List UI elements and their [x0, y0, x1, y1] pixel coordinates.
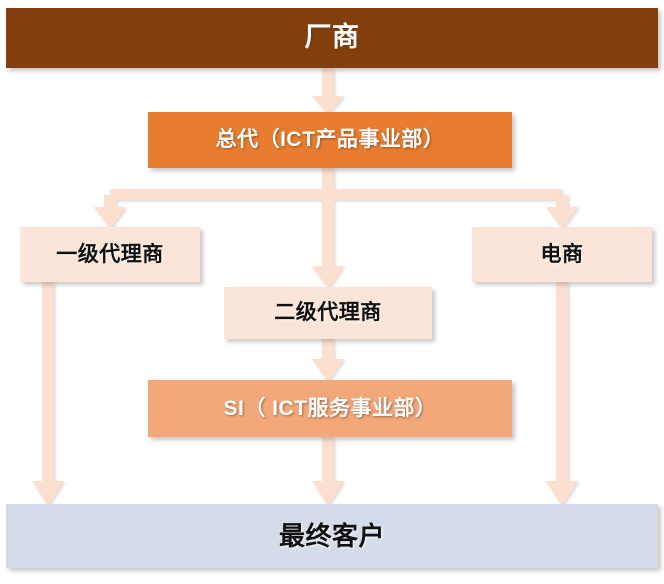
node-tier2-agent[interactable]: 二级代理商	[224, 287, 432, 339]
node-tier1-agent-label: 一级代理商	[56, 243, 164, 266]
edge-to-tier2-stem	[322, 168, 334, 268]
node-tier1-agent[interactable]: 一级代理商	[20, 227, 200, 282]
edge-tier1-to-customer-head	[32, 481, 64, 506]
edge-to-tier1-head	[94, 207, 126, 229]
node-end-customer-label: 最终客户	[279, 522, 385, 551]
edge-ecommerce-to-customer-head	[546, 481, 578, 506]
node-general-agent[interactable]: 总代（ICT产品事业部）	[148, 112, 512, 168]
node-si[interactable]: SI（ ICT服务事业部）	[148, 380, 512, 437]
edge-tier1-to-customer-stem	[42, 282, 54, 483]
node-end-customer[interactable]: 最终客户	[6, 504, 658, 568]
edge-si-to-customer-stem	[322, 437, 334, 483]
node-ecommerce[interactable]: 电商	[472, 227, 652, 282]
edge-to-ecommerce-head	[546, 207, 578, 229]
edge-branch-bus	[110, 189, 562, 200]
edge-to-tier2-head	[312, 266, 344, 289]
edge-tier2-to-si-stem	[322, 339, 334, 361]
node-tier2-agent-label: 二级代理商	[274, 301, 382, 324]
node-manufacturer-label: 厂商	[305, 23, 360, 53]
node-general-agent-label: 总代（ICT产品事业部）	[216, 128, 445, 151]
edge-tier2-to-si-head	[312, 359, 344, 382]
edge-to-tier1-stem	[104, 195, 116, 209]
edge-manufacturer-to-general-agent-stem	[322, 68, 334, 98]
edge-si-to-customer-head	[312, 481, 344, 506]
node-ecommerce-label: 电商	[541, 243, 584, 266]
flowchart-canvas: 厂商 总代（ICT产品事业部） 一级代理商 电商 二级代理商 SI（ ICT服务…	[0, 0, 664, 584]
node-si-label: SI（ ICT服务事业部）	[223, 397, 436, 420]
edge-general-agent-drop	[322, 168, 334, 200]
edge-ecommerce-to-customer-stem	[556, 282, 568, 483]
edge-to-ecommerce-stem	[556, 195, 568, 209]
node-manufacturer[interactable]: 厂商	[6, 8, 658, 68]
